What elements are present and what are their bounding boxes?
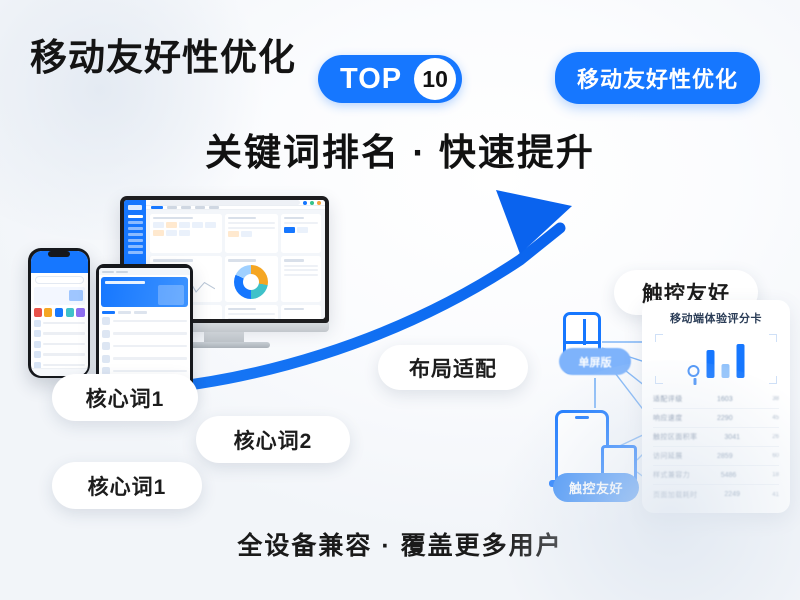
row-extra: 45 (767, 415, 779, 421)
row-extra: 38 (767, 396, 779, 402)
mobile-experience-diagram: 单屏版 触控友好 移动端体验评分卡 适配评级160338 响应速度229045 … (545, 300, 790, 515)
poster-canvas: 移动友好性优化 TOP 10 移动友好性优化 关键词排名 · 快速提升 (0, 0, 800, 600)
row-value: 5486 (721, 472, 737, 479)
top-badge-label: TOP (318, 65, 414, 94)
top-rank-badge: TOP 10 (318, 55, 462, 103)
row-extra: 18 (767, 472, 779, 478)
table-row: 访问延展285960 (653, 447, 779, 466)
diagram-chip-single: 单屏版 (559, 348, 631, 375)
row-label: 样式兼容力 (653, 470, 690, 480)
row-extra: 41 (767, 492, 779, 498)
header-tag-pill: 移动友好性优化 (555, 52, 760, 104)
row-label: 响应速度 (653, 413, 683, 423)
iphone-device-icon (28, 248, 90, 378)
score-card-rows: 适配评级160338 响应速度229045 触控区面积率304126 访问延展2… (653, 390, 779, 504)
table-row: 样式兼容力548618 (653, 466, 779, 485)
ipad-device-icon (96, 264, 193, 391)
row-extra: 26 (767, 434, 779, 440)
row-value: 2859 (717, 453, 733, 460)
table-row: 页面加载耗时224941 (653, 485, 779, 504)
row-label: 访问延展 (653, 451, 683, 461)
table-row: 触控区面积率304126 (653, 428, 779, 447)
diagram-chip-touch: 触控友好 (553, 473, 639, 502)
callout-keyword-3[interactable]: 核心词1 (52, 462, 202, 509)
score-card: 移动端体验评分卡 适配评级160338 响应速度229045 触控区面积率304… (642, 300, 790, 513)
page-title: 移动友好性优化 (30, 27, 296, 81)
phone-notch (48, 251, 70, 257)
score-card-chart (655, 334, 777, 384)
table-row: 响应速度229045 (653, 409, 779, 428)
footer-tagline: 全设备兼容 · 覆盖更多用户 (0, 526, 800, 562)
row-extra: 60 (767, 453, 779, 459)
magnifier-icon (688, 365, 700, 377)
device-mockup-cluster (28, 196, 328, 396)
row-value: 1603 (717, 396, 733, 403)
callout-keyword-2[interactable]: 核心词2 (196, 416, 350, 463)
row-value: 2290 (717, 415, 733, 422)
row-label: 触控区面积率 (653, 432, 697, 442)
phone-search-bar (35, 276, 84, 284)
table-row: 适配评级160338 (653, 390, 779, 409)
donut-chart (234, 265, 268, 299)
row-label: 适配评级 (653, 394, 683, 404)
callout-layout[interactable]: 布局适配 (378, 345, 528, 390)
row-value: 3041 (724, 434, 740, 441)
row-value: 2249 (724, 491, 740, 498)
row-label: 页面加载耗时 (653, 490, 697, 500)
callout-keyword-1[interactable]: 核心词1 (52, 374, 198, 421)
top-badge-number: 10 (414, 58, 456, 100)
score-card-title: 移动端体验评分卡 (653, 310, 779, 326)
